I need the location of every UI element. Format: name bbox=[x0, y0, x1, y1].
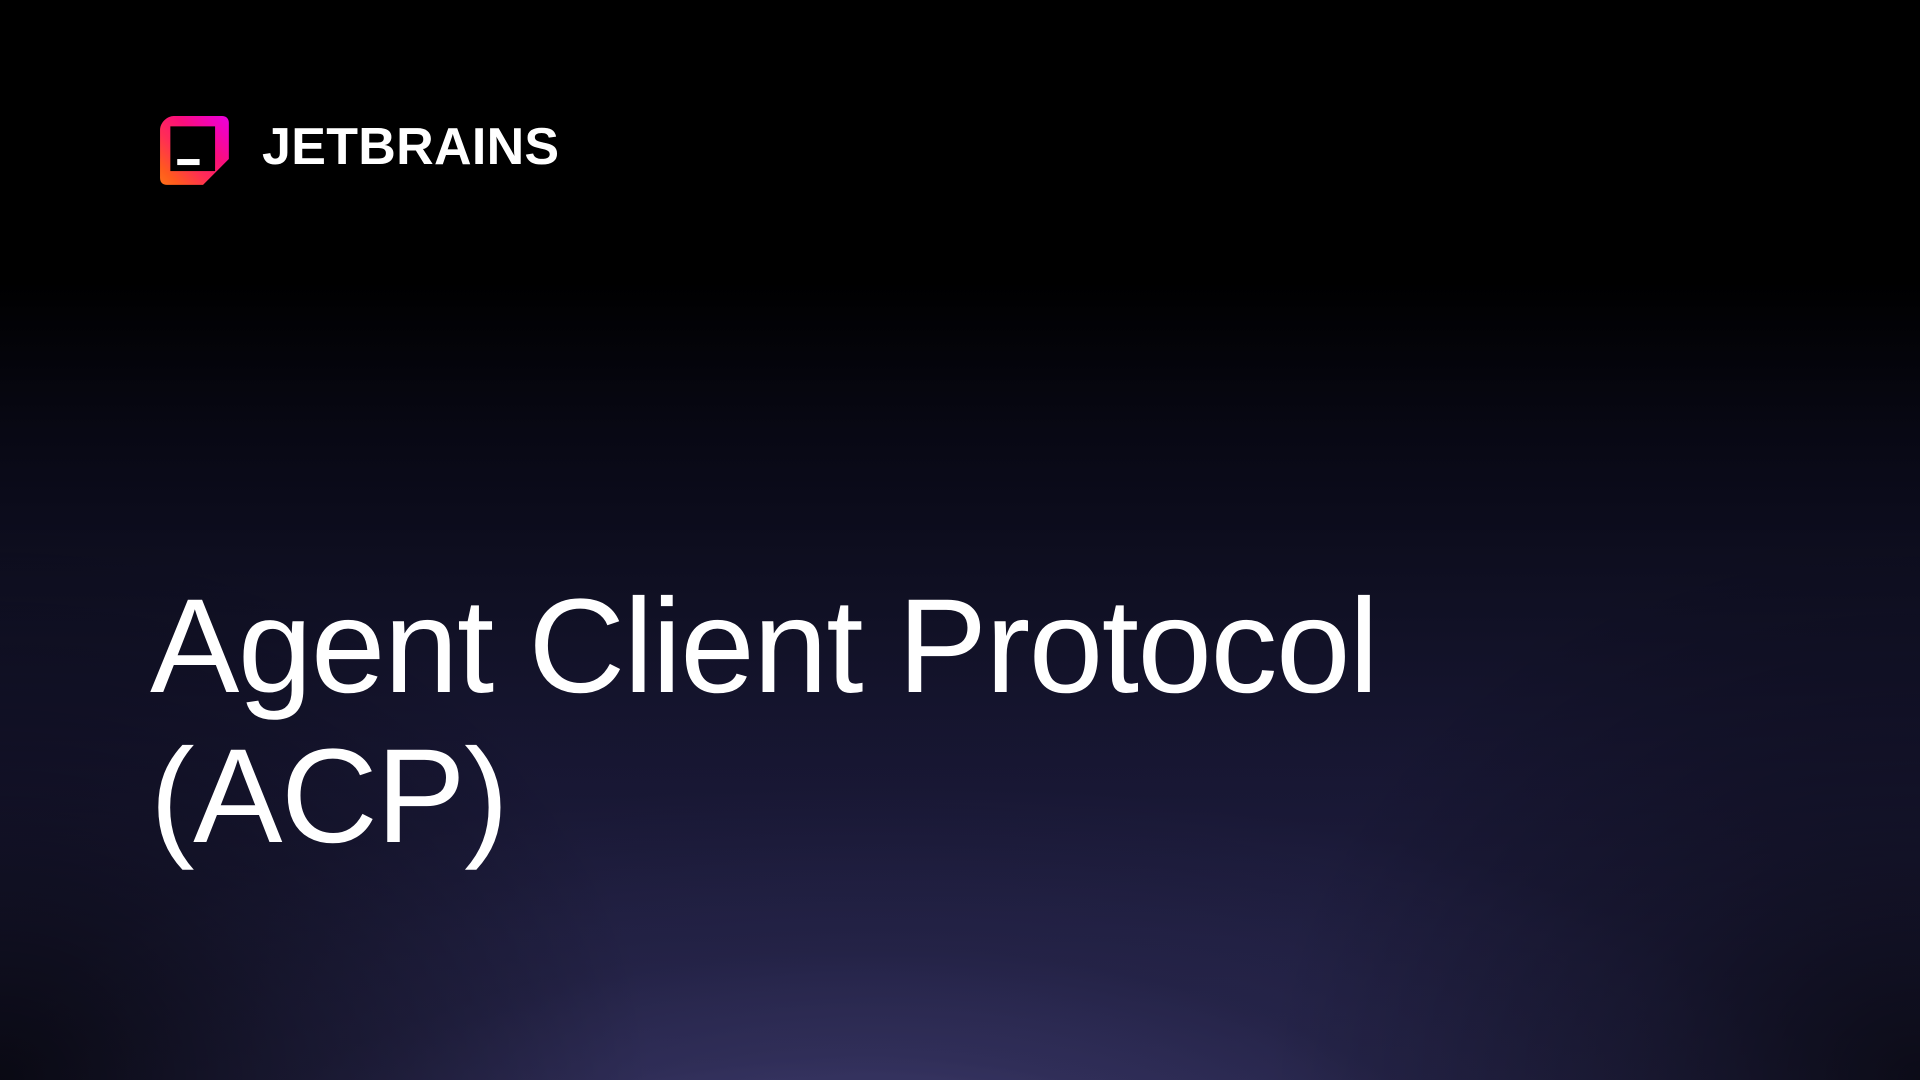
slide-title-line-1: Agent Client Protocol bbox=[150, 572, 1710, 722]
jetbrains-wordmark: JETBRAINS bbox=[262, 121, 559, 173]
slide-title-line-2: (ACP) bbox=[150, 722, 1710, 872]
slide-root: JETBRAINS Agent Client Protocol (ACP) bbox=[0, 0, 1920, 1080]
slide-title: Agent Client Protocol (ACP) bbox=[150, 572, 1710, 872]
jetbrains-logo-icon bbox=[148, 104, 234, 190]
jetbrains-logo-lockup: JETBRAINS bbox=[148, 104, 559, 190]
